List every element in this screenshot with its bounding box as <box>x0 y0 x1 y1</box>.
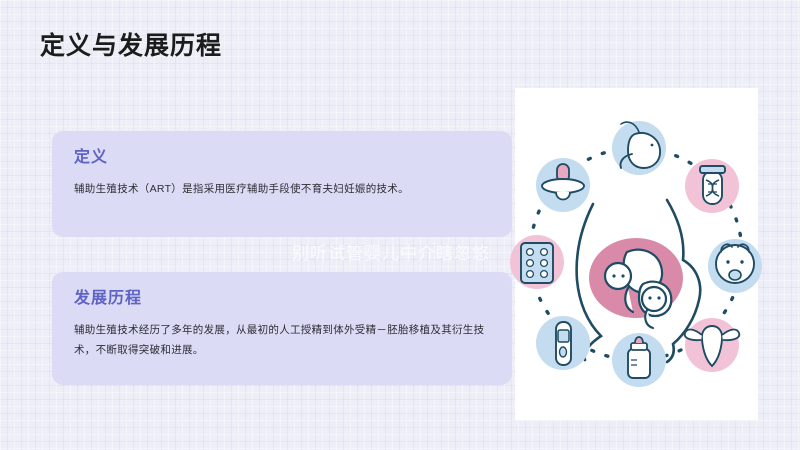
baby-face-icon <box>708 239 762 293</box>
pill-blister-icon <box>510 235 564 289</box>
history-card: 发展历程 辅助生殖技术经历了多年的发展，从最初的人工授精到体外受精－胚胎移植及其… <box>52 272 512 385</box>
definition-card-body: 辅助生殖技术（ART）是指采用医疗辅助手段使不育夫妇妊娠的技术。 <box>74 179 492 199</box>
illustration-panel <box>515 88 758 420</box>
watermark-text: 别听试管婴儿中介瞎忽悠 <box>292 243 490 265</box>
fetus-icon <box>612 121 666 175</box>
baby-bottle-icon <box>612 333 666 387</box>
history-card-heading: 发展历程 <box>74 288 492 310</box>
uterus-icon <box>685 318 740 372</box>
test-tube-dna-icon <box>685 159 739 213</box>
fertility-illustration <box>515 88 758 420</box>
definition-card: 定义 辅助生殖技术（ART）是指采用医疗辅助手段使不育夫妇妊娠的技术。 <box>52 131 512 237</box>
slide-canvas: 定义与发展历程 定义 辅助生殖技术（ART）是指采用医疗辅助手段使不育夫妇妊娠的… <box>0 0 800 450</box>
pacifier-icon <box>536 158 590 212</box>
definition-card-heading: 定义 <box>74 147 492 169</box>
history-card-body: 辅助生殖技术经历了多年的发展，从最初的人工授精到体外受精－胚胎移植及其衍生技术，… <box>74 320 492 360</box>
twin-fetus-b <box>639 282 671 328</box>
pregnancy-test-icon <box>536 316 590 370</box>
page-title: 定义与发展历程 <box>40 29 222 63</box>
